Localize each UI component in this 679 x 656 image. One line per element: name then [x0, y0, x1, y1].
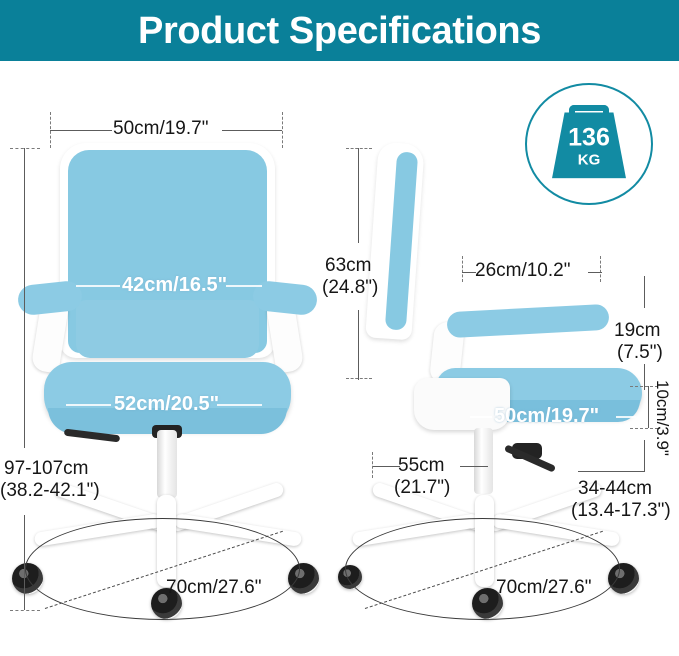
side-base-depth-rule-left	[372, 466, 400, 467]
side-backrest-tick-top	[346, 148, 372, 149]
front-backrest-width-rule-right	[226, 285, 262, 287]
front-overall-height-in-label: (38.2-42.1")	[0, 481, 100, 502]
side-base-depth-tick-left	[372, 452, 373, 478]
side-seat-height-cm-label: 34-44cm	[578, 479, 652, 500]
side-armrest-height-cm-label: 19cm	[614, 321, 660, 342]
side-seat-height-guide	[644, 440, 645, 472]
weight-capacity-badge: 136 KG	[525, 83, 653, 205]
side-seat-height-in-label: (13.4-17.3")	[571, 501, 671, 522]
side-backrest-height-in-label: (24.8")	[322, 278, 378, 299]
front-seat-width-rule-left	[66, 404, 111, 406]
side-armrest-height-in-label: (7.5")	[617, 343, 663, 364]
front-overall-height-cm-label: 97-107cm	[4, 459, 89, 480]
side-backrest-height-guide-upper	[358, 148, 359, 243]
product-specifications-page: Product Specifications 136 KG	[0, 0, 679, 656]
front-height-guide-lower	[24, 515, 25, 610]
front-seat-width-rule-right	[217, 404, 262, 406]
side-armrest-height-guide-upper	[644, 276, 645, 308]
front-gas-cylinder	[157, 430, 177, 498]
header-banner: Product Specifications	[0, 0, 679, 61]
side-armrest-rule-right	[588, 272, 602, 273]
side-armrest-pad	[446, 304, 609, 338]
front-seat-width-label: 52cm/20.5"	[114, 394, 219, 414]
front-overall-width-label: 50cm/19.7"	[113, 119, 208, 140]
side-seat-thickness-guide	[648, 386, 649, 428]
front-height-tick-bottom	[10, 610, 40, 611]
side-backrest-height-cm-label: 63cm	[325, 256, 371, 277]
front-base-diameter-label: 70cm/27.6"	[166, 578, 261, 599]
side-seat-depth-label: 50cm/19.7"	[494, 406, 599, 426]
front-width-tick-right	[282, 112, 283, 148]
side-backrest-height-guide-lower	[358, 310, 359, 380]
weight-icon: 136 KG	[552, 112, 626, 178]
side-armrest-length-label: 26cm/10.2"	[475, 261, 570, 282]
weight-value: 136	[568, 125, 610, 150]
page-title: Product Specifications	[138, 12, 541, 50]
front-height-tick-top	[10, 148, 40, 149]
side-base-depth-in-label: (21.7")	[394, 478, 450, 499]
side-armrest-rule-left	[462, 272, 476, 273]
side-seat-thickness-label: 10cm/3.9"	[652, 380, 672, 456]
weight-unit: KG	[578, 152, 601, 167]
front-width-rule-left	[50, 130, 112, 131]
side-base-diameter-label: 70cm/27.6"	[496, 578, 591, 599]
side-seat-height-rule	[578, 471, 644, 472]
front-backrest-width-label: 42cm/16.5"	[122, 275, 227, 295]
side-base-depth-rule-right	[460, 466, 488, 467]
side-base-depth-cm-label: 55cm	[398, 456, 444, 477]
front-lumbar-support	[76, 300, 259, 358]
side-armrest-length-tick-right	[600, 256, 601, 282]
side-backrest-tick-bottom	[346, 378, 372, 379]
front-width-rule-right	[222, 130, 282, 131]
front-backrest-width-rule-left	[76, 285, 120, 287]
side-seat-depth-rule-left	[470, 416, 492, 418]
front-height-guide-upper	[24, 148, 25, 448]
side-armrest-length-tick-left	[462, 256, 463, 282]
side-seat-depth-rule-right	[616, 416, 636, 418]
side-gas-cylinder	[474, 428, 493, 494]
